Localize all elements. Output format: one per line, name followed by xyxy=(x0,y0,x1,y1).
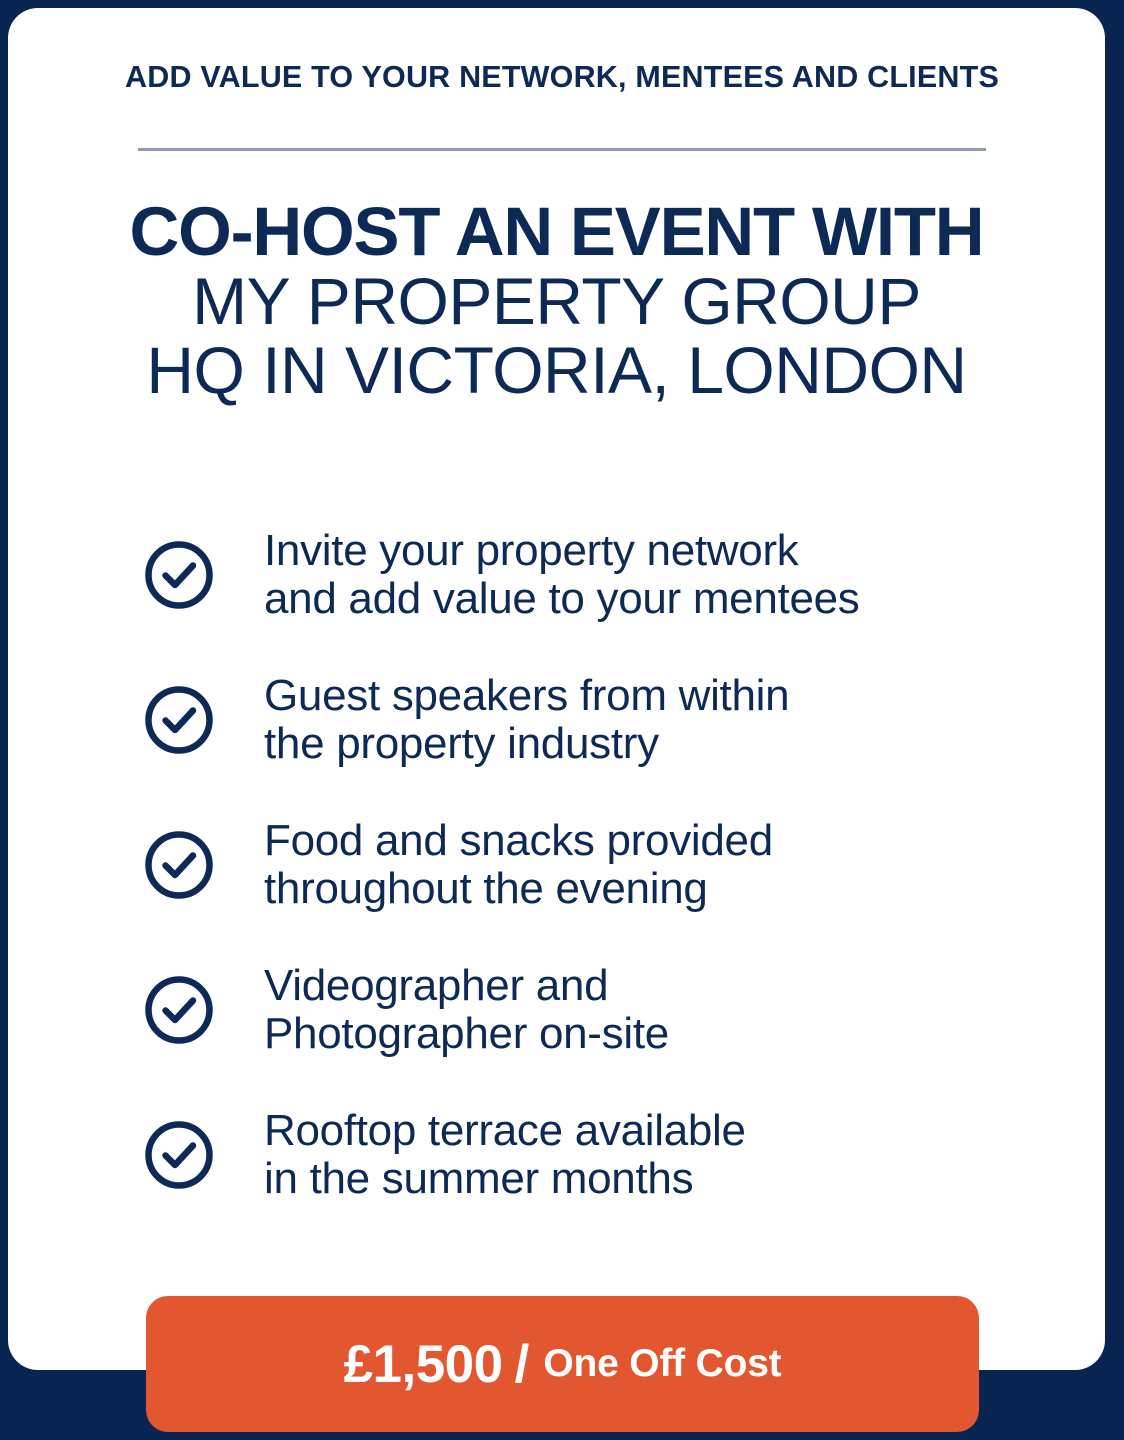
price-amount: £1,500 xyxy=(344,1334,503,1395)
check-circle-icon xyxy=(144,830,214,900)
list-item-line-2: in the summer months xyxy=(264,1155,746,1203)
list-item-label: Guest speakers from within the property … xyxy=(264,672,789,767)
list-item-line-1: Invite your property network xyxy=(264,527,859,575)
list-item: Invite your property network and add val… xyxy=(144,514,1084,635)
promo-card: ADD VALUE TO YOUR NETWORK, MENTEES AND C… xyxy=(8,8,1105,1370)
header-divider xyxy=(138,148,986,151)
title-line-2: MY PROPERTY GROUP xyxy=(8,269,1105,334)
title-line-1: CO-HOST AN EVENT WITH xyxy=(8,198,1105,266)
list-item-label: Food and snacks provided throughout the … xyxy=(264,817,773,912)
price-term: One Off Cost xyxy=(543,1342,781,1386)
check-circle-icon xyxy=(144,1120,214,1190)
list-item-line-1: Guest speakers from within xyxy=(264,672,789,720)
check-circle-icon xyxy=(144,540,214,610)
list-item-line-2: the property industry xyxy=(264,720,789,768)
list-item-line-1: Rooftop terrace available xyxy=(264,1107,746,1155)
eyebrow-heading: ADD VALUE TO YOUR NETWORK, MENTEES AND C… xyxy=(62,60,1062,95)
list-item: Videographer and Photographer on-site xyxy=(144,949,1084,1070)
check-circle-icon xyxy=(144,685,214,755)
check-circle-icon xyxy=(144,975,214,1045)
title-line-3: HQ IN VICTORIA, LONDON xyxy=(8,338,1105,403)
list-item-line-1: Videographer and xyxy=(264,962,669,1010)
list-item-label: Rooftop terrace available in the summer … xyxy=(264,1107,746,1202)
feature-list: Invite your property network and add val… xyxy=(144,514,1084,1215)
list-item: Guest speakers from within the property … xyxy=(144,659,1084,780)
price-banner[interactable]: £1,500 / One Off Cost xyxy=(146,1296,979,1432)
list-item-label: Invite your property network and add val… xyxy=(264,527,859,622)
page-title: CO-HOST AN EVENT WITH MY PROPERTY GROUP … xyxy=(8,198,1105,403)
list-item-label: Videographer and Photographer on-site xyxy=(264,962,669,1057)
list-item-line-1: Food and snacks provided xyxy=(264,817,773,865)
promo-poster: { "colors": { "navy": "#082450", "card":… xyxy=(0,0,1124,1440)
list-item: Food and snacks provided throughout the … xyxy=(144,804,1084,925)
list-item-line-2: and add value to your mentees xyxy=(264,575,859,623)
list-item-line-2: throughout the evening xyxy=(264,865,773,913)
list-item: Rooftop terrace available in the summer … xyxy=(144,1094,1084,1215)
price-separator: / xyxy=(515,1334,530,1395)
list-item-line-2: Photographer on-site xyxy=(264,1010,669,1058)
